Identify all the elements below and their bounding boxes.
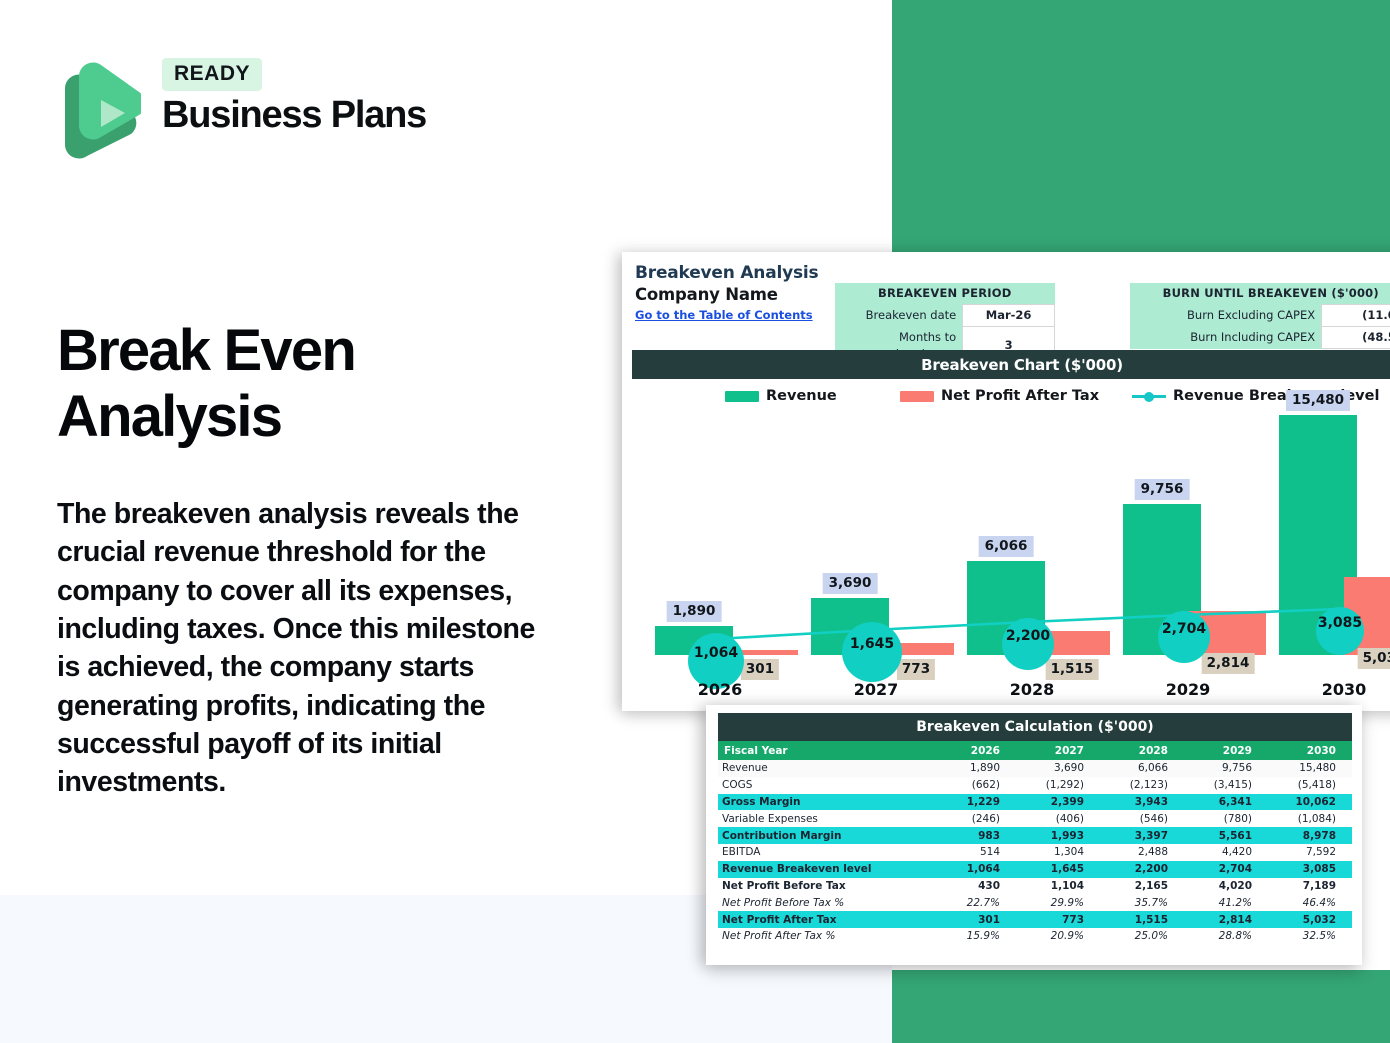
cell-2027: 1,993 <box>1016 827 1100 844</box>
table-row: BREAKEVEN PERIOD <box>835 283 1055 305</box>
legend-label-revenue: Revenue <box>766 388 837 404</box>
table-row: EBITDA5141,3042,4884,4207,592 <box>718 844 1352 861</box>
calculation-table-title: Breakeven Calculation ($'000) <box>718 713 1352 741</box>
cell-2027: (406) <box>1016 810 1100 827</box>
brand-name: Business Plans <box>162 94 426 137</box>
cell-2028: 3,943 <box>1100 794 1184 811</box>
table-row: Net Profit After Tax3017731,5152,8145,03… <box>718 911 1352 928</box>
breakeven-marker-2027 <box>842 622 902 682</box>
table-row: Breakeven date Mar-26 <box>835 305 1055 327</box>
cell-2029: 9,756 <box>1184 760 1268 777</box>
cell-2030: 46.4% <box>1268 894 1352 911</box>
legend-item-revenue: Revenue <box>725 388 837 404</box>
play-triangle-logo-icon <box>57 60 141 162</box>
table-row: Revenue Breakeven level1,0641,6452,2002,… <box>718 861 1352 878</box>
legend-item-net-profit-after-tax: Net Profit After Tax <box>900 388 1099 404</box>
breakeven-date-value: Mar-26 <box>963 305 1055 327</box>
ready-badge: READY <box>162 58 262 91</box>
x-tick-2026: 2026 <box>698 680 743 699</box>
cell-2028: (2,123) <box>1100 777 1184 794</box>
breakeven-label-2028: 2,200 <box>1006 628 1050 644</box>
page-description: The breakeven analysis reveals the cruci… <box>57 495 552 802</box>
col-2030: 2030 <box>1268 741 1352 760</box>
cell-2027: 773 <box>1016 911 1100 928</box>
cell-2029: 2,704 <box>1184 861 1268 878</box>
cell-2027: 1,304 <box>1016 844 1100 861</box>
table-row: BURN UNTIL BREAKEVEN ($'000) <box>1130 283 1390 305</box>
breakeven-period-header: BREAKEVEN PERIOD <box>835 283 1055 305</box>
table-row: COGS(662)(1,292)(2,123)(3,415)(5,418) <box>718 777 1352 794</box>
cell-2029: (780) <box>1184 810 1268 827</box>
table-row: Contribution Margin9831,9933,3975,5618,9… <box>718 827 1352 844</box>
burn-excluding-capex-value: (11.0) <box>1322 305 1390 327</box>
cell-2030: (5,418) <box>1268 777 1352 794</box>
breakeven-line-swatch-icon <box>1132 391 1166 402</box>
sheet-title: Breakeven Analysis <box>635 263 818 283</box>
cell-2030: 8,978 <box>1268 827 1352 844</box>
burn-including-capex-label: Burn Including CAPEX <box>1130 327 1322 349</box>
cell-2026: 430 <box>932 878 1016 895</box>
sheet-company-name: Company Name <box>635 285 778 304</box>
cell-2028: 3,397 <box>1100 827 1184 844</box>
row-label: Revenue Breakeven level <box>718 861 932 878</box>
burn-including-capex-value: (48.5) <box>1322 327 1390 349</box>
npat-swatch-icon <box>900 391 934 402</box>
cell-2028: 2,165 <box>1100 878 1184 895</box>
cell-2030: 32.5% <box>1268 928 1352 945</box>
cell-2029: 28.8% <box>1184 928 1268 945</box>
cell-2026: 514 <box>932 844 1016 861</box>
row-label: Gross Margin <box>718 794 932 811</box>
row-label: Net Profit Before Tax % <box>718 894 932 911</box>
cell-2028: 6,066 <box>1100 760 1184 777</box>
cell-2027: 1,104 <box>1016 878 1100 895</box>
col-2026: 2026 <box>932 741 1016 760</box>
breakeven-chart-panel: Breakeven Analysis Company Name Go to th… <box>622 252 1390 711</box>
cell-2027: 1,645 <box>1016 861 1100 878</box>
legend-label-npat: Net Profit After Tax <box>941 388 1099 404</box>
breakeven-calculation-panel: Breakeven Calculation ($'000) Fiscal Yea… <box>706 705 1362 965</box>
cell-2028: 2,488 <box>1100 844 1184 861</box>
x-tick-2029: 2029 <box>1166 680 1211 699</box>
cell-2030: (1,084) <box>1268 810 1352 827</box>
cell-2029: 4,420 <box>1184 844 1268 861</box>
cell-2029: 6,341 <box>1184 794 1268 811</box>
cell-2028: 2,200 <box>1100 861 1184 878</box>
cell-2026: 1,229 <box>932 794 1016 811</box>
chart-plot-area: 1,890 301 3,690 773 6,066 1,515 9,756 2,… <box>632 412 1390 707</box>
cell-2026: 983 <box>932 827 1016 844</box>
breakeven-label-2027: 1,645 <box>850 636 894 652</box>
table-row: Gross Margin1,2292,3993,9436,34110,062 <box>718 794 1352 811</box>
x-tick-2027: 2027 <box>854 680 899 699</box>
cell-2027: 20.9% <box>1016 928 1100 945</box>
breakeven-label-2030: 3,085 <box>1318 615 1362 631</box>
cell-2027: 3,690 <box>1016 760 1100 777</box>
cell-2026: 1,064 <box>932 861 1016 878</box>
table-of-contents-link[interactable]: Go to the Table of Contents <box>635 308 813 322</box>
cell-2030: 3,085 <box>1268 861 1352 878</box>
burn-until-breakeven-table: BURN UNTIL BREAKEVEN ($'000) Burn Exclud… <box>1130 283 1390 349</box>
cell-2029: 2,814 <box>1184 911 1268 928</box>
cell-2026: (662) <box>932 777 1016 794</box>
burn-header: BURN UNTIL BREAKEVEN ($'000) <box>1130 283 1390 305</box>
col-2029: 2029 <box>1184 741 1268 760</box>
row-label: Contribution Margin <box>718 827 932 844</box>
row-label: Revenue <box>718 760 932 777</box>
cell-2026: 15.9% <box>932 928 1016 945</box>
cell-2029: (3,415) <box>1184 777 1268 794</box>
cell-2029: 5,561 <box>1184 827 1268 844</box>
revenue-swatch-icon <box>725 391 759 402</box>
breakeven-label-2029: 2,704 <box>1162 621 1206 637</box>
x-tick-2030: 2030 <box>1322 680 1367 699</box>
col-2027: 2027 <box>1016 741 1100 760</box>
cell-2027: 2,399 <box>1016 794 1100 811</box>
cell-2026: (246) <box>932 810 1016 827</box>
cell-2027: (1,292) <box>1016 777 1100 794</box>
cell-2029: 4,020 <box>1184 878 1268 895</box>
background-green-top-block <box>892 0 1390 253</box>
cell-2027: 29.9% <box>1016 894 1100 911</box>
chart-title: Breakeven Chart ($'000) <box>632 350 1390 379</box>
col-fiscal-year: Fiscal Year <box>718 741 932 760</box>
cell-2030: 10,062 <box>1268 794 1352 811</box>
cell-2028: 25.0% <box>1100 928 1184 945</box>
x-tick-2028: 2028 <box>1010 680 1055 699</box>
breakeven-marker-2028 <box>1002 618 1054 670</box>
page-title: Break Even Analysis <box>57 318 577 450</box>
table-row: Net Profit Before Tax4301,1042,1654,0207… <box>718 878 1352 895</box>
row-label: Net Profit After Tax <box>718 911 932 928</box>
breakeven-label-2026: 1,064 <box>694 645 738 661</box>
table-row: Net Profit Before Tax %22.7%29.9%35.7%41… <box>718 894 1352 911</box>
cell-2030: 5,032 <box>1268 911 1352 928</box>
cell-2030: 15,480 <box>1268 760 1352 777</box>
cell-2030: 7,189 <box>1268 878 1352 895</box>
table-row: Net Profit After Tax %15.9%20.9%25.0%28.… <box>718 928 1352 945</box>
col-2028: 2028 <box>1100 741 1184 760</box>
table-row: Burn Including CAPEX (48.5) <box>1130 327 1390 349</box>
breakeven-date-label: Breakeven date <box>835 305 963 327</box>
row-label: Net Profit Before Tax <box>718 878 932 895</box>
cell-2029: 41.2% <box>1184 894 1268 911</box>
background-green-bottom-block <box>892 970 1390 1043</box>
brand-wordmark: READY Business Plans <box>162 58 426 137</box>
calculation-table-body: Revenue1,8903,6906,0669,75615,480COGS(66… <box>718 760 1352 945</box>
cell-2026: 301 <box>932 911 1016 928</box>
burn-excluding-capex-label: Burn Excluding CAPEX <box>1130 305 1322 327</box>
chart-legend: Revenue Net Profit After Tax Revenue Bre… <box>632 383 1390 409</box>
table-row: Burn Excluding CAPEX (11.0) <box>1130 305 1390 327</box>
row-label: COGS <box>718 777 932 794</box>
cell-2030: 7,592 <box>1268 844 1352 861</box>
row-label: Variable Expenses <box>718 810 932 827</box>
bar-label-revenue-2030: 15,480 <box>1286 390 1350 411</box>
brand-logo-block: READY Business Plans <box>57 58 457 168</box>
breakeven-marker-2029 <box>1158 611 1210 663</box>
table-row: Revenue1,8903,6906,0669,75615,480 <box>718 760 1352 777</box>
row-label: EBITDA <box>718 844 932 861</box>
cell-2026: 22.7% <box>932 894 1016 911</box>
row-label: Net Profit After Tax % <box>718 928 932 945</box>
cell-2028: (546) <box>1100 810 1184 827</box>
table-header-row: Fiscal Year 2026 2027 2028 2029 2030 <box>718 741 1352 760</box>
cell-2026: 1,890 <box>932 760 1016 777</box>
calculation-table: Fiscal Year 2026 2027 2028 2029 2030 Rev… <box>718 741 1352 945</box>
table-row: Variable Expenses(246)(406)(546)(780)(1,… <box>718 810 1352 827</box>
cell-2028: 35.7% <box>1100 894 1184 911</box>
cell-2028: 1,515 <box>1100 911 1184 928</box>
